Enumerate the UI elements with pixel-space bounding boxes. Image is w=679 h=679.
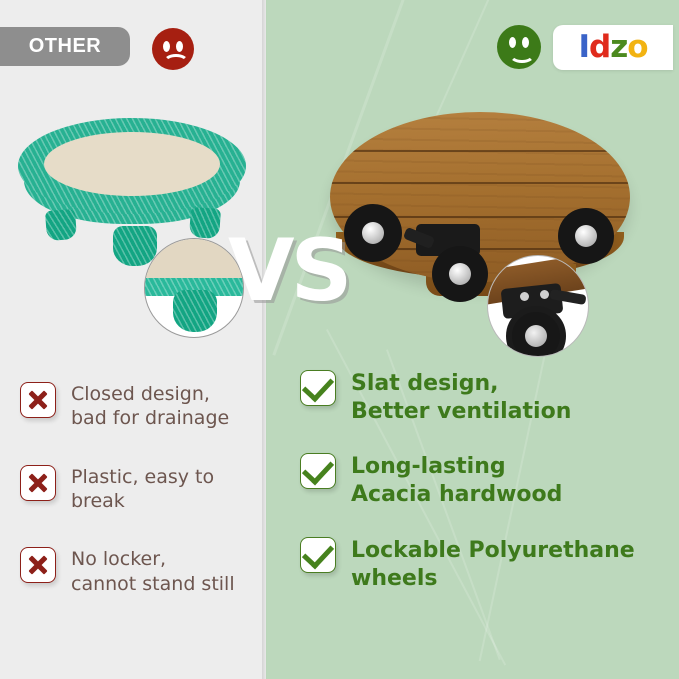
sad-mouth <box>163 54 189 71</box>
happy-mouth <box>509 46 535 63</box>
panel-divider <box>262 0 267 679</box>
list-item: Plastic, easy to break <box>20 465 270 514</box>
product-foot-left <box>45 209 77 241</box>
feature-text: No locker, cannot stand still <box>71 547 235 596</box>
other-feature-list: Closed design, bad for drainage Plastic,… <box>20 382 270 630</box>
feature-text: Lockable Polyurethane wheels <box>351 537 635 592</box>
feature-line-1: Plastic, easy to break <box>71 465 270 514</box>
feature-line-1: Long-lasting <box>351 453 562 481</box>
feature-line-2: Better ventilation <box>351 398 571 426</box>
logo-letter-z: z <box>610 32 627 63</box>
other-badge-label: OTHER <box>29 35 102 58</box>
product-top-inner <box>44 132 220 196</box>
feature-text: Slat design, Better ventilation <box>351 370 571 425</box>
idzo-feature-list: Slat design, Better ventilation Long-las… <box>300 370 670 620</box>
feature-line-1: Lockable Polyurethane <box>351 537 635 565</box>
check-mark-icon <box>300 537 336 573</box>
list-item: Closed design, bad for drainage <box>20 382 270 431</box>
sad-eye-right <box>176 41 183 52</box>
left-comparison-panel: OTHER <box>0 0 266 679</box>
list-item: Lockable Polyurethane wheels <box>300 537 670 592</box>
happy-face-icon <box>497 25 541 69</box>
brand-logo: I d z o <box>553 25 673 70</box>
comparison-infographic: OTHER <box>0 0 679 679</box>
feature-line-1: No locker, <box>71 547 235 571</box>
product-foot-right <box>189 207 221 239</box>
feature-text: Long-lasting Acacia hardwood <box>351 453 562 508</box>
other-badge: OTHER <box>0 27 130 66</box>
list-item: No locker, cannot stand still <box>20 547 270 596</box>
list-item: Long-lasting Acacia hardwood <box>300 453 670 508</box>
list-item: Slat design, Better ventilation <box>300 370 670 425</box>
feature-line-1: Slat design, <box>351 370 571 398</box>
check-mark-icon <box>300 370 336 406</box>
logo-letter-o: o <box>627 32 647 63</box>
feature-line-1: Closed design, <box>71 382 229 406</box>
x-mark-icon <box>20 547 56 583</box>
logo-letter-d: d <box>589 32 610 63</box>
feature-line-2: wheels <box>351 565 635 593</box>
sad-eye-left <box>163 41 170 52</box>
feature-line-2: bad for drainage <box>71 406 229 430</box>
feature-line-2: Acacia hardwood <box>351 481 562 509</box>
right-zoom-callout <box>487 255 589 357</box>
feature-line-2: cannot stand still <box>71 572 235 596</box>
x-mark-icon <box>20 382 56 418</box>
x-mark-icon <box>20 465 56 501</box>
feature-text: Closed design, bad for drainage <box>71 382 229 431</box>
check-mark-icon <box>300 453 336 489</box>
feature-text: Plastic, easy to break <box>71 465 270 514</box>
logo-letter-i: I <box>578 32 589 63</box>
sad-face-icon <box>152 28 194 70</box>
versus-label: VS <box>228 221 349 321</box>
